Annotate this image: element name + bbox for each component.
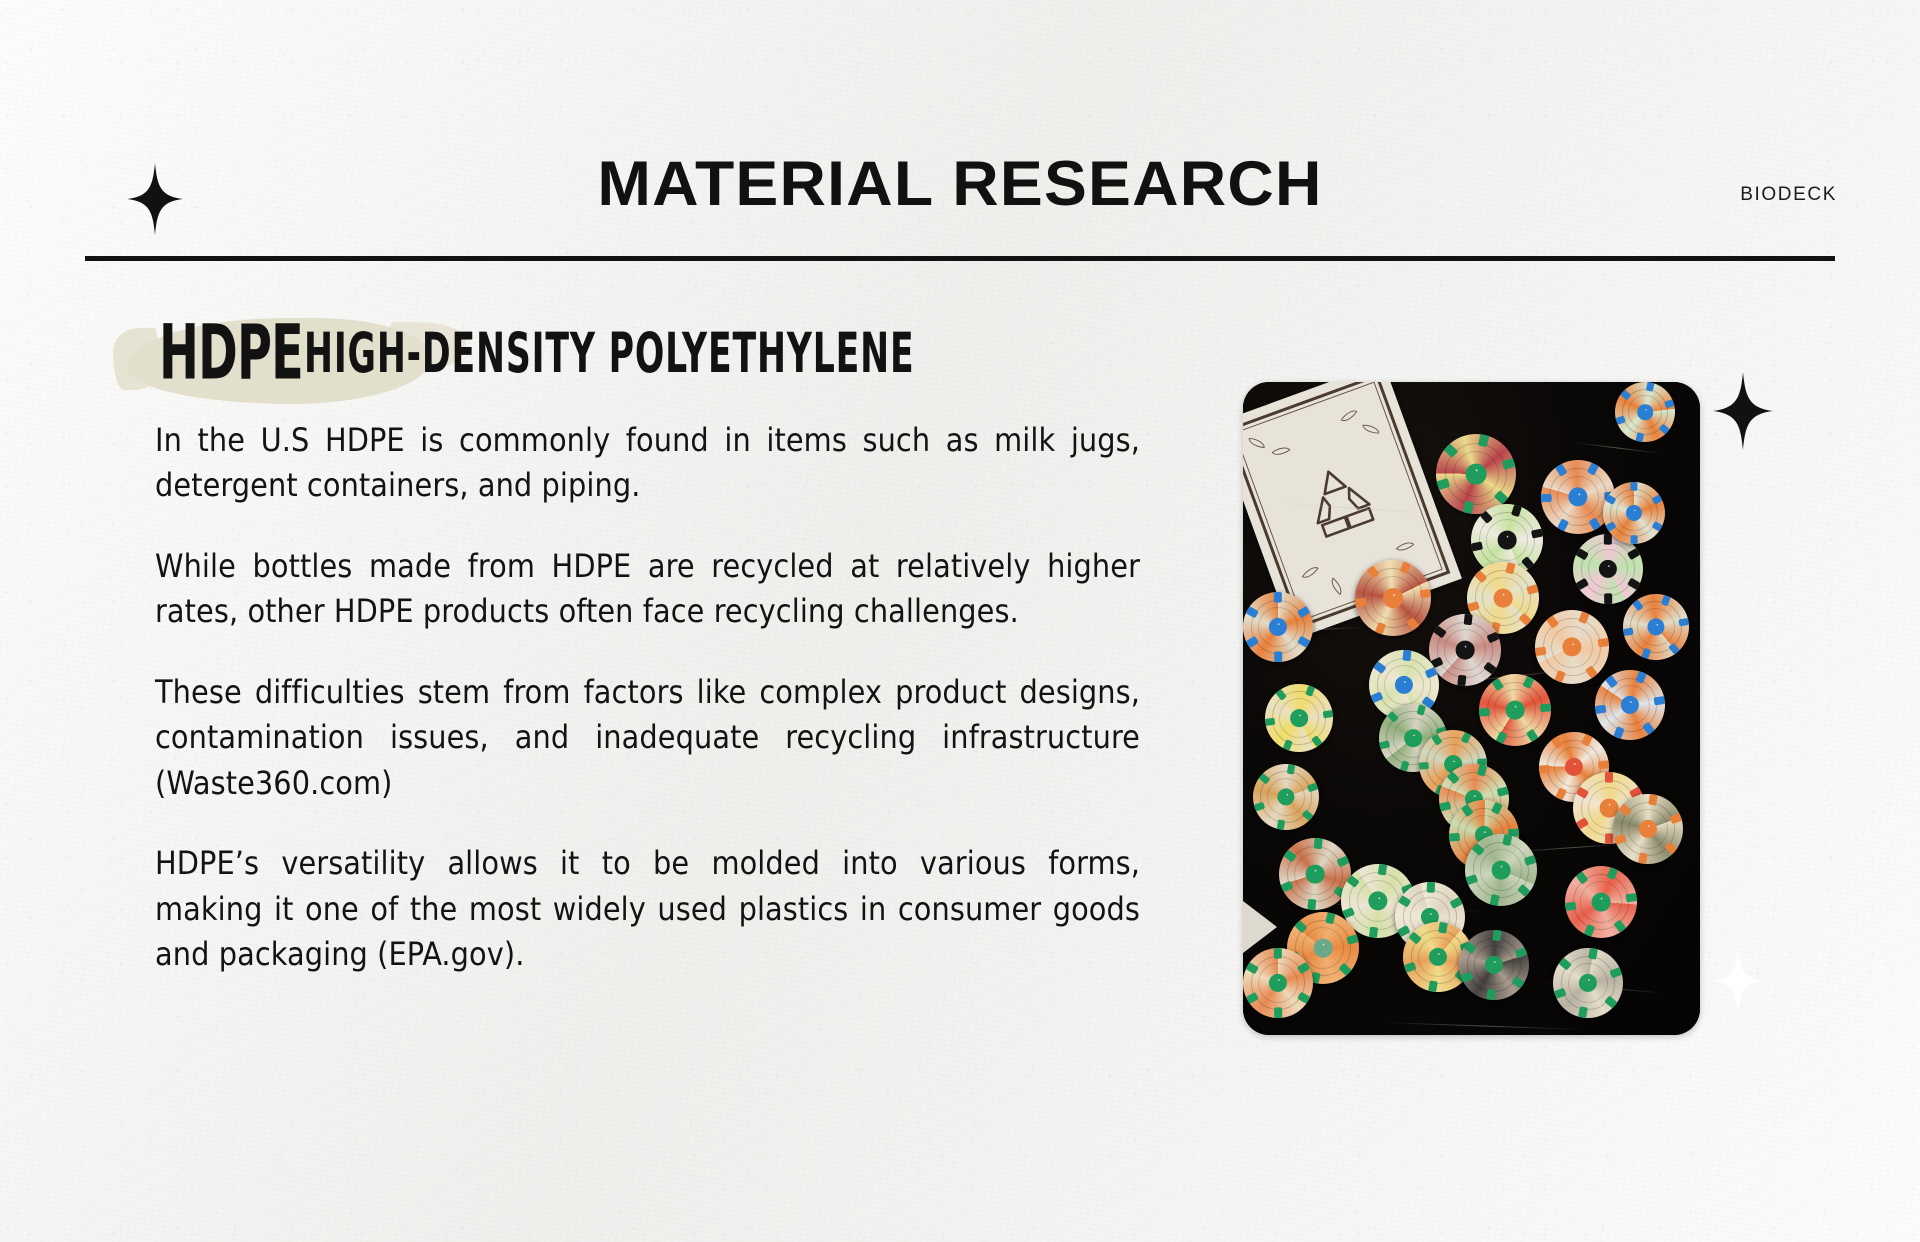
chip-edge-marker xyxy=(1450,897,1463,909)
photo-corner-notch xyxy=(1243,901,1277,953)
chip-recycle-hub-icon xyxy=(1404,729,1422,747)
chip-edge-marker xyxy=(1526,729,1539,742)
chip-edge-marker xyxy=(1346,934,1359,945)
chip-edge-marker xyxy=(1449,833,1459,841)
chip-edge-marker xyxy=(1515,947,1528,958)
recycled-plastic-chip xyxy=(1355,560,1431,636)
chip-edge-marker xyxy=(1322,710,1333,719)
body-paragraph: While bottles made from HDPE are recycle… xyxy=(155,544,1140,635)
chip-edge-marker xyxy=(1668,643,1680,655)
chip-edge-marker xyxy=(1519,613,1532,626)
chip-edge-marker xyxy=(1531,529,1543,539)
chip-recycle-hub-icon xyxy=(1383,588,1403,608)
recycled-plastic-chip xyxy=(1243,948,1313,1018)
chip-edge-marker xyxy=(1626,893,1637,902)
chip-edge-marker xyxy=(1337,856,1350,868)
chip-edge-marker xyxy=(1302,809,1314,821)
chip-edge-marker xyxy=(1659,424,1670,435)
chip-edge-marker xyxy=(1613,727,1624,740)
chip-edge-marker xyxy=(1369,926,1379,938)
recycled-plastic-chip xyxy=(1243,592,1313,662)
recycled-plastic-chip xyxy=(1573,534,1643,604)
chip-edge-marker xyxy=(1539,765,1549,773)
chip-edge-marker xyxy=(1654,696,1665,705)
chip-edge-marker xyxy=(1597,638,1609,648)
chip-edge-marker xyxy=(1311,735,1323,748)
chip-edge-marker xyxy=(1631,535,1638,544)
chip-edge-marker xyxy=(1605,772,1613,782)
chip-edge-marker xyxy=(1584,924,1595,937)
recycled-plastic-chip xyxy=(1595,670,1665,740)
chip-edge-marker xyxy=(1670,813,1682,824)
chip-edge-marker xyxy=(1274,948,1282,958)
chip-edge-marker xyxy=(1604,534,1612,544)
recycled-plastic-chip xyxy=(1553,948,1623,1018)
chip-edge-marker xyxy=(1298,636,1311,648)
chip-edge-marker xyxy=(1541,494,1552,503)
surface-scratch xyxy=(1573,442,1662,454)
chip-edge-marker xyxy=(1604,594,1612,604)
recycled-plastic-chip xyxy=(1615,382,1675,442)
chip-edge-marker xyxy=(1502,458,1516,470)
chip-edge-marker xyxy=(1641,648,1651,660)
recycled-plastic-chip xyxy=(1436,434,1516,514)
chip-recycle-hub-icon xyxy=(1456,641,1475,660)
chip-edge-marker xyxy=(1400,760,1410,772)
body-paragraph: In the U.S HDPE is commonly found in ite… xyxy=(155,418,1140,509)
chip-edge-marker xyxy=(1274,652,1282,662)
chip-edge-marker xyxy=(1512,976,1525,988)
surface-scratch xyxy=(1383,1022,1583,1030)
chip-edge-marker xyxy=(1464,614,1473,625)
chip-edge-marker xyxy=(1526,584,1539,595)
chip-recycle-hub-icon xyxy=(1494,589,1513,608)
chip-edge-marker xyxy=(1599,761,1609,769)
header-divider-rule xyxy=(85,256,1835,261)
chip-edge-marker xyxy=(1610,967,1622,978)
page-title: MATERIAL RESEARCH xyxy=(0,148,1920,220)
section-heading-text: HDPE HIGH-DENSITY POLYETHYLENE xyxy=(159,314,1049,393)
chip-edge-marker xyxy=(1642,722,1655,735)
chip-edge-marker xyxy=(1555,788,1567,801)
chip-edge-marker xyxy=(1557,518,1569,532)
section-heading-abbreviation: HDPE xyxy=(159,309,303,397)
chip-edge-marker xyxy=(1378,864,1388,876)
chip-edge-marker xyxy=(1419,589,1431,599)
section-heading-fullname: HIGH-DENSITY POLYETHYLENE xyxy=(304,321,915,386)
brand-logo-text: BIODECK xyxy=(1740,184,1837,206)
chip-edge-marker xyxy=(1524,855,1537,866)
chip-edge-marker xyxy=(1403,650,1412,661)
body-paragraph: HDPE’s versatility allows it to be molde… xyxy=(155,841,1140,977)
chip-edge-marker xyxy=(1298,992,1311,1004)
chip-edge-marker xyxy=(1664,400,1675,409)
chip-edge-marker xyxy=(1494,490,1509,505)
chip-recycle-hub-icon xyxy=(1314,939,1333,958)
chip-edge-marker xyxy=(1665,842,1678,855)
chip-edge-marker xyxy=(1428,981,1437,992)
chip-edge-marker xyxy=(1535,647,1547,657)
chip-edge-marker xyxy=(1631,482,1638,491)
chip-edge-marker xyxy=(1307,899,1316,910)
chip-recycle-hub-icon xyxy=(1592,893,1611,912)
chip-recycle-hub-icon xyxy=(1637,404,1653,420)
chip-edge-marker xyxy=(1678,618,1689,627)
chip-edge-marker xyxy=(1565,902,1576,911)
chip-edge-marker xyxy=(1614,920,1627,933)
chip-edge-marker xyxy=(1479,708,1490,717)
chip-edge-marker xyxy=(1638,853,1647,864)
chip-recycle-hub-icon xyxy=(1498,531,1517,550)
chip-edge-marker xyxy=(1486,989,1495,1000)
chip-recycle-hub-icon xyxy=(1290,709,1308,727)
chip-edge-marker xyxy=(1517,884,1530,897)
chip-edge-marker xyxy=(1490,894,1500,906)
body-copy: In the U.S HDPE is commonly found in ite… xyxy=(155,418,1140,977)
photo-image xyxy=(1243,382,1700,1035)
chip-edge-marker xyxy=(1628,578,1641,590)
recycled-plastic-chip xyxy=(1479,674,1551,746)
chip-edge-marker xyxy=(1540,704,1551,713)
recycled-plastic-chip xyxy=(1623,594,1689,660)
chip-edge-marker xyxy=(1496,731,1508,744)
chip-recycle-hub-icon xyxy=(1466,464,1487,485)
chip-edge-marker xyxy=(1274,592,1282,602)
chip-edge-marker xyxy=(1457,675,1466,686)
chip-edge-marker xyxy=(1651,521,1662,532)
chip-edge-marker xyxy=(1595,705,1606,714)
recycled-plastic-chip xyxy=(1613,794,1683,864)
chip-edge-marker xyxy=(1493,930,1502,941)
chip-edge-marker xyxy=(1483,662,1496,675)
recycled-plastic-chip xyxy=(1535,610,1609,684)
recycled-plastic-chip xyxy=(1603,482,1665,544)
chip-edge-marker xyxy=(1277,819,1286,830)
chip-recycle-hub-icon xyxy=(1492,861,1511,880)
chip-edge-marker xyxy=(1419,762,1429,770)
chip-edge-marker xyxy=(1427,882,1435,892)
chip-edge-marker xyxy=(1578,1007,1587,1018)
chip-edge-marker xyxy=(1585,665,1598,679)
chip-edge-marker xyxy=(1274,1008,1282,1018)
body-paragraph: These difficulties stem from factors lik… xyxy=(155,670,1140,806)
chip-recycle-hub-icon xyxy=(1306,865,1325,884)
recycled-plastic-chip xyxy=(1465,834,1537,906)
chip-edge-marker xyxy=(1463,501,1474,514)
sparkle-right-bottom-icon xyxy=(1712,948,1764,1014)
chip-edge-marker xyxy=(1588,517,1601,531)
recycled-plastic-chip xyxy=(1429,614,1501,686)
material-photo-card xyxy=(1243,382,1700,1035)
chip-recycle-hub-icon xyxy=(1506,701,1525,720)
chip-edge-marker xyxy=(1314,838,1323,849)
recycled-plastic-chip xyxy=(1265,684,1333,752)
chip-edge-marker xyxy=(1339,963,1352,976)
chip-edge-marker xyxy=(1497,787,1509,797)
slide-canvas: MATERIAL RESEARCH BIODECK HDPE HIGH-DENS… xyxy=(0,0,1920,1242)
chip-edge-marker xyxy=(1635,432,1643,442)
recycled-plastic-chip xyxy=(1459,930,1529,1000)
chip-edge-marker xyxy=(1605,834,1613,844)
chip-edge-marker xyxy=(1605,996,1618,1009)
chip-edge-marker xyxy=(1636,671,1647,684)
chip-edge-marker xyxy=(1628,548,1641,560)
recycled-plastic-chip xyxy=(1565,866,1637,938)
sparkle-right-top-icon xyxy=(1712,372,1774,450)
recycled-plastic-chip xyxy=(1253,764,1319,830)
